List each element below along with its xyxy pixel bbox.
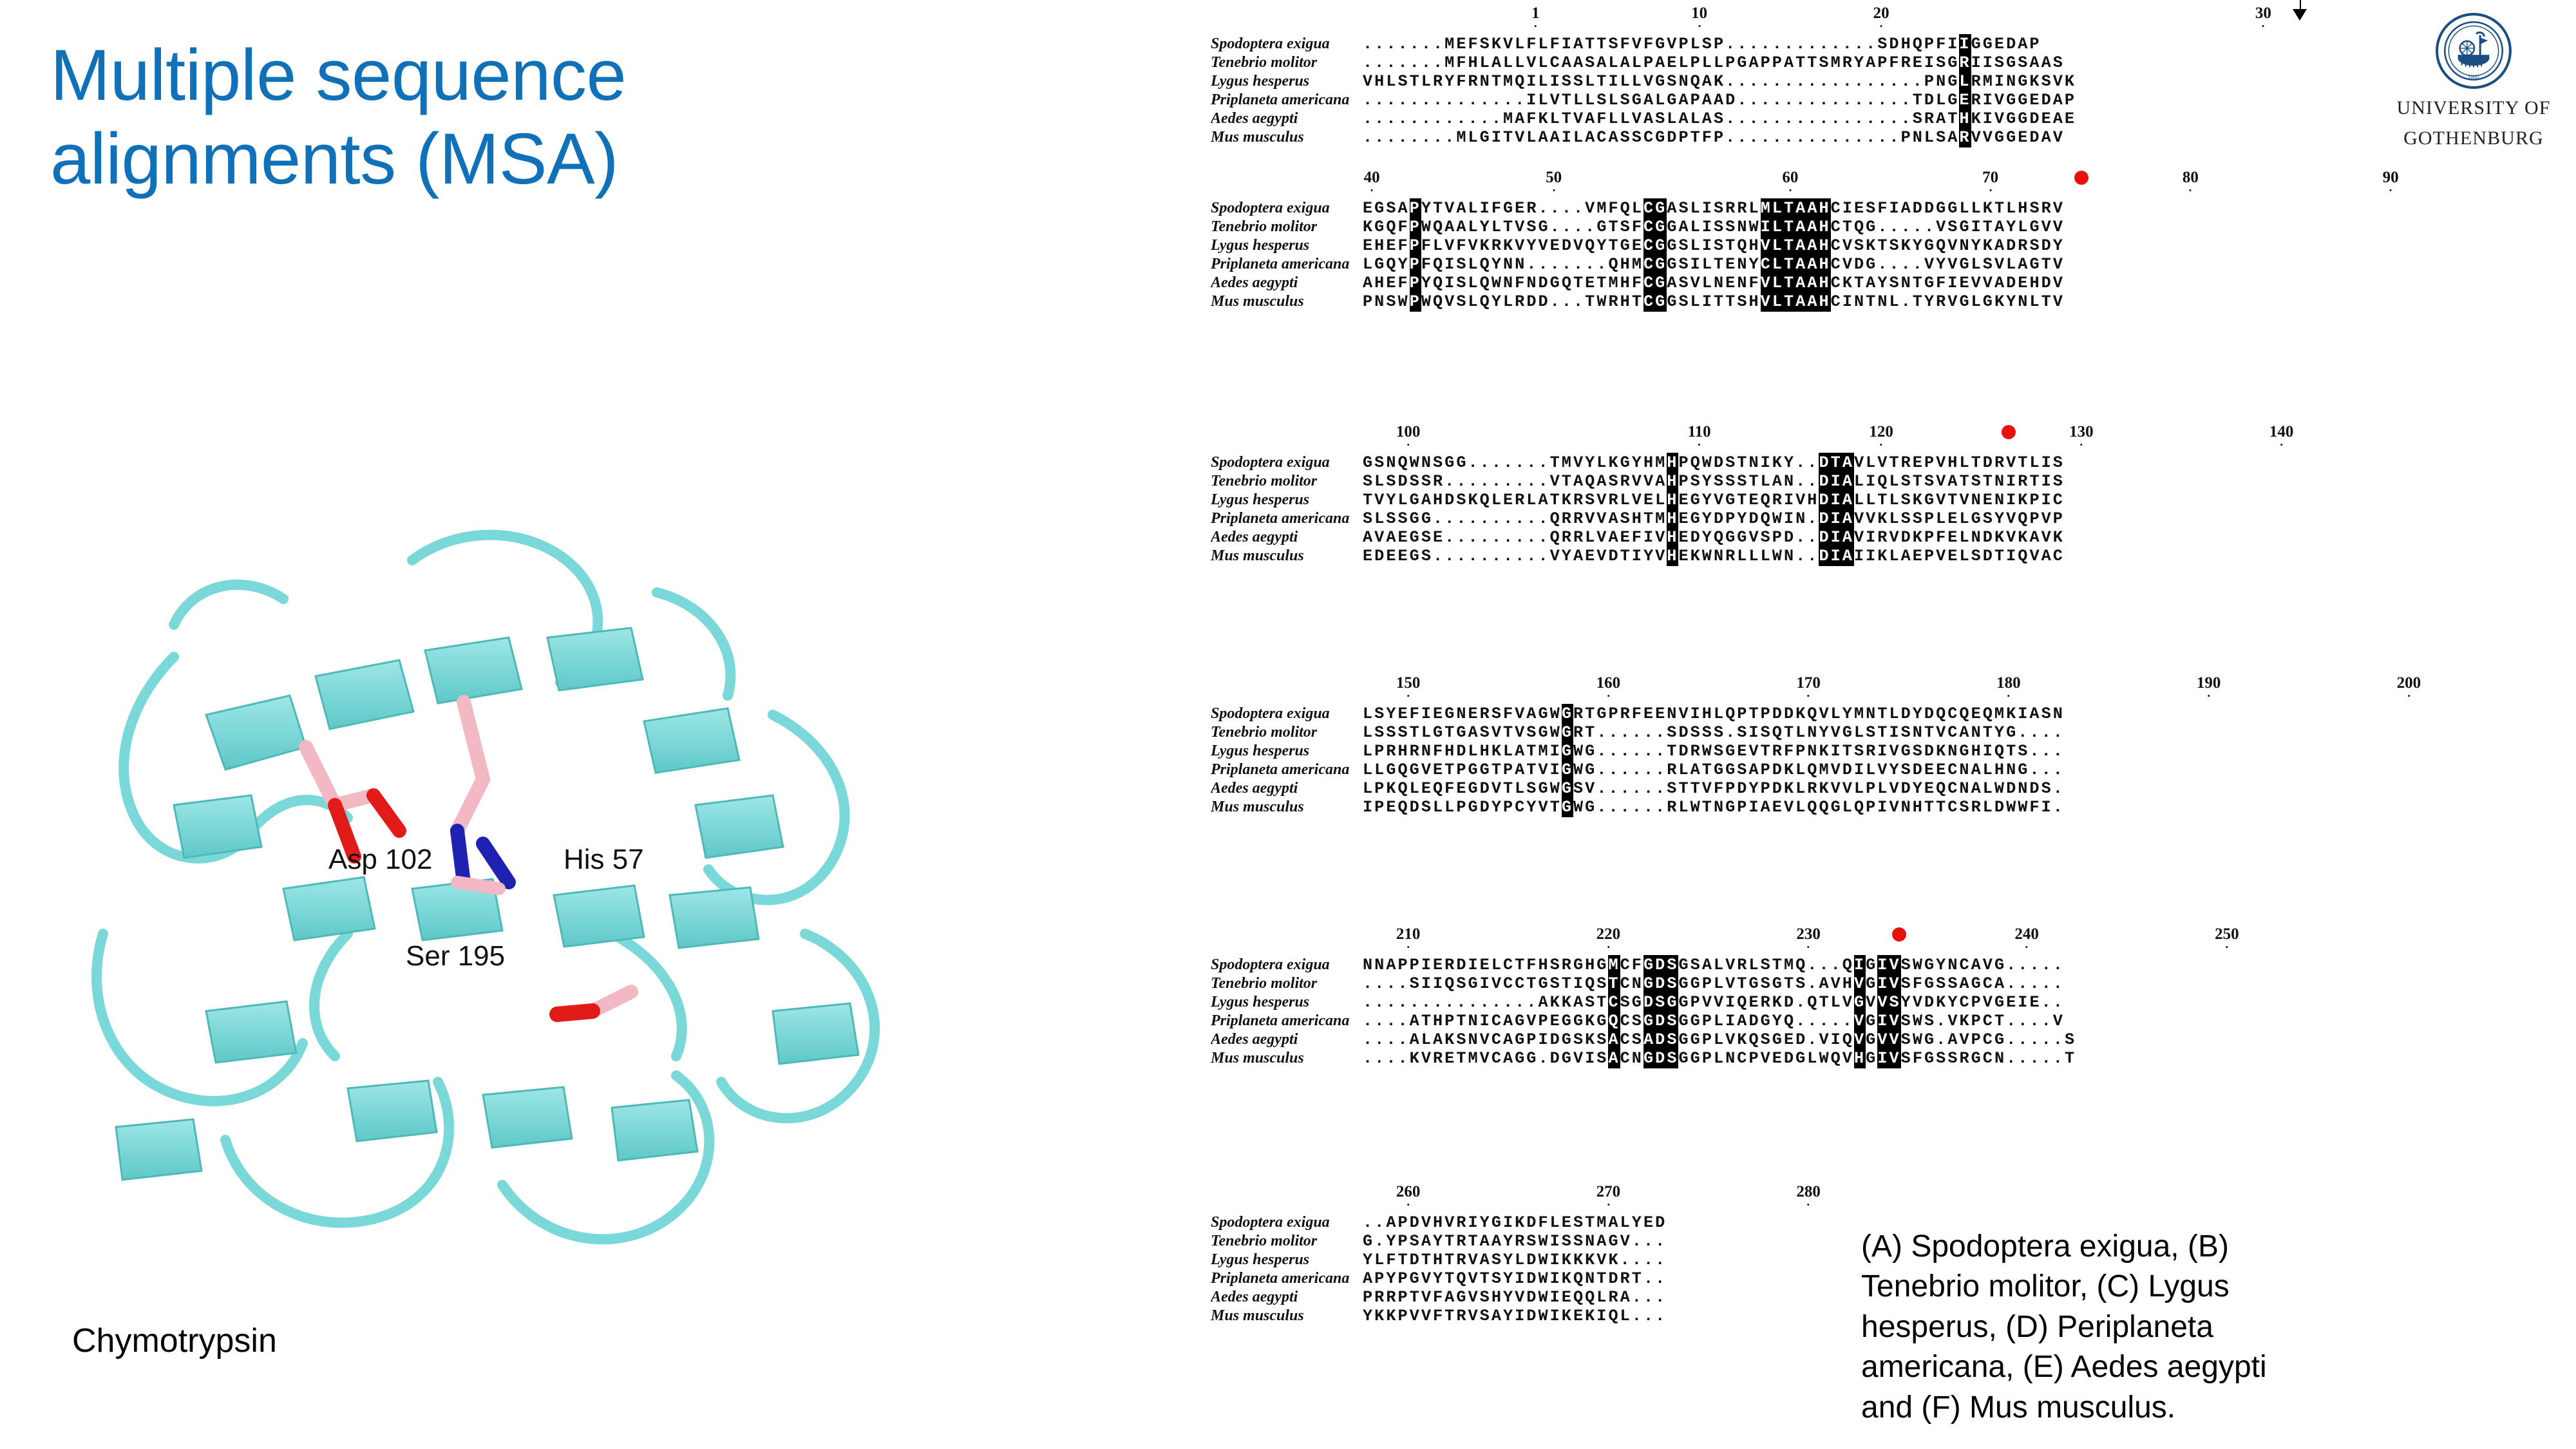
catalytic-residue-marker <box>2002 425 2016 439</box>
ruler-tick-dot <box>1553 189 1555 191</box>
university-logo: 1891 UNIVERSITY OF GOTHENBURG <box>2383 12 2564 150</box>
msa-sequence-row: Priplaneta americanaLGQYPFQISLQYNN......… <box>1211 255 2306 274</box>
msa-species-label: Aedes aegypti <box>1211 110 1363 128</box>
msa-conserved-residue: H <box>1667 453 1678 473</box>
ruler-tick-label: 280 <box>1796 1184 1821 1200</box>
ruler-tick: 170 <box>1796 675 1821 697</box>
msa-sequence-text: LLGQGVETPGGTPATVIGWG......RLATGGSAPDKLQM… <box>1363 761 2065 779</box>
msa-conserved-residue: T <box>1608 974 1620 994</box>
residue-label-ser-195: Ser 195 <box>406 940 505 972</box>
msa-conserved-residue: A <box>1842 527 1854 547</box>
msa-sequence-row: Lygus hesperusLPRHRNFHDLHKLATMIGWG......… <box>1211 742 2306 761</box>
msa-sequence-text: IPEQDSLLPGDYPCYVTGWG......RLWTNGPIAEVLQQ… <box>1363 798 2065 817</box>
msa-conserved-residue: VLTAAH <box>1761 292 1831 312</box>
ruler-tick-label: 170 <box>1796 675 1821 691</box>
msa-conserved-residue: H <box>1854 1048 1866 1068</box>
msa-conserved-residue: G <box>1562 723 1573 743</box>
msa-position-ruler: 405060708090 <box>1211 169 2306 199</box>
msa-species-label: Spodoptera exigua <box>1211 35 1363 53</box>
ruler-tick-label: 40 <box>1364 169 1380 185</box>
msa-conserved-residue: A <box>1842 471 1854 491</box>
msa-conserved-residue: CG <box>1643 236 1667 256</box>
msa-conserved-residue: DSG <box>1643 992 1679 1012</box>
msa-species-label: Priplaneta americana <box>1211 761 1363 779</box>
seal-year-text: 1891 <box>2468 75 2480 81</box>
msa-sequence-text: APYPGVYTQVTSYIDWIKQNTDRT.. <box>1363 1269 1667 1288</box>
ruler-tick-label: 240 <box>2014 926 2039 942</box>
ruler-tick-dot <box>1789 189 1791 191</box>
msa-species-label: Spodoptera exigua <box>1211 1214 1363 1231</box>
ruler-tick-label: 210 <box>1396 926 1421 942</box>
ruler-tick-dot <box>1880 25 1882 27</box>
msa-species-label: Aedes aegypti <box>1211 1031 1363 1048</box>
msa-species-label: Spodoptera exigua <box>1211 705 1363 723</box>
msa-position-ruler: 260270280 <box>1211 1184 2306 1213</box>
msa-species-label: Tenebrio molitor <box>1211 218 1363 236</box>
ruler-tick: 220 <box>1596 926 1621 948</box>
msa-position-ruler: 150160170180190200 <box>1211 675 2306 705</box>
msa-conserved-residue: R <box>1959 128 1971 147</box>
msa-conserved-residue: P <box>1410 236 1421 256</box>
ruler-tick-dot <box>2280 444 2282 446</box>
msa-conserved-residue: V <box>1854 974 1866 994</box>
ruler-tick-dot <box>2262 25 2264 27</box>
msa-species-label: Lygus hesperus <box>1211 743 1363 760</box>
msa-conserved-residue: VV <box>1877 1030 1900 1050</box>
msa-species-label: Aedes aegypti <box>1211 1289 1363 1306</box>
ruler-tick: 120 <box>1869 424 1893 446</box>
ruler-tick-label: 120 <box>1869 424 1893 440</box>
msa-species-label: Lygus hesperus <box>1211 237 1363 254</box>
msa-sequence-row: Mus musculusIPEQDSLLPGDYPCYVTGWG......RL… <box>1211 798 2306 817</box>
msa-sequence-text: .......MEFSKVLFLFIATTSFVFGVPLSP.........… <box>1363 35 2041 53</box>
ruler-tick: 230 <box>1796 926 1821 948</box>
msa-sequence-row: Spodoptera exiguaEGSAPYTVALIFGER....VMFQ… <box>1211 199 2306 218</box>
msa-sequence-text: EGSAPYTVALIFGER....VMFQLCGASLISRRLMLTAAH… <box>1363 199 2065 218</box>
residue-label-his-57: His 57 <box>563 844 644 876</box>
msa-conserved-residue: CG <box>1643 198 1667 218</box>
residue-label-asp-102: Asp 102 <box>328 844 432 876</box>
msa-species-label: Priplaneta americana <box>1211 1012 1363 1030</box>
msa-conserved-residue: P <box>1410 217 1421 237</box>
msa-conserved-residue: ADS <box>1643 1030 1679 1050</box>
msa-sequence-row: Mus musculus........MLGITVLAAILACASSCGDP… <box>1211 128 2306 147</box>
msa-sequence-text: NNAPPIERDIELCTFHSRGHGMCFGDSGSALVRLSTMQ..… <box>1363 956 2065 974</box>
msa-sequence-text: ....ATHPTNICAGVPEGGKGQCSGDSGGPLIADGYQ...… <box>1363 1012 2065 1030</box>
msa-conserved-residue: M <box>1608 955 1620 975</box>
msa-conserved-residue: C <box>1608 992 1620 1012</box>
msa-conserved-residue: CG <box>1643 292 1667 312</box>
ruler-tick-label: 100 <box>1396 424 1421 440</box>
ruler-tick-label: 50 <box>1546 169 1562 185</box>
msa-species-label: Mus musculus <box>1211 293 1363 310</box>
msa-species-label: Tenebrio molitor <box>1211 1233 1363 1250</box>
msa-block: 150160170180190200Spodoptera exiguaLSYEF… <box>1211 675 2306 817</box>
ruler-tick-dot <box>2080 444 2082 446</box>
ruler-tick-dot <box>2190 189 2192 191</box>
ruler-tick: 200 <box>2397 675 2421 697</box>
msa-conserved-residue: L <box>1959 71 1971 91</box>
ruler-tick: 250 <box>2215 926 2239 948</box>
msa-sequence-text: LSSSTLGTGASVTVSGWGRT......SDSSS.SISQTLNY… <box>1363 723 2065 742</box>
msa-sequence-text: GSNQWNSGG.......TMVYLKGYHMHPQWDSTNIKY..D… <box>1363 453 2065 472</box>
msa-species-label: Tenebrio molitor <box>1211 473 1363 490</box>
msa-conserved-residue: H <box>1667 509 1678 529</box>
ruler-tick-label: 130 <box>2069 424 2094 440</box>
msa-conserved-residue: GDS <box>1643 1011 1679 1031</box>
msa-sequence-row: Aedes aegypti............MAFKLTVAFLLVASL… <box>1211 109 2306 128</box>
msa-sequence-row: Aedes aegypti....ALAKSNVCAGPIDGSKSACSADS… <box>1211 1030 2306 1049</box>
ruler-tick-label: 10 <box>1691 5 1707 21</box>
ruler-tick-label: 90 <box>2383 169 2399 185</box>
university-seal-icon: 1891 <box>2434 12 2513 90</box>
ruler-tick-dot <box>1407 1204 1409 1206</box>
msa-sequence-text: EHEFPFLVFVKRKVYVEDVQYTGECGGSLISTQHVLTAAH… <box>1363 236 2065 255</box>
ruler-tick-label: 250 <box>2215 926 2239 942</box>
msa-conserved-residue: G <box>1562 797 1573 817</box>
msa-sequence-row: Priplaneta americanaSLSSGG..........QRRV… <box>1211 509 2306 528</box>
msa-conserved-residue: H <box>1667 490 1678 510</box>
msa-species-label: Spodoptera exigua <box>1211 200 1363 217</box>
msa-conserved-residue: G <box>1562 741 1573 761</box>
msa-sequence-text: LPRHRNFHDLHKLATMIGWG......TDRWSGEVTRFPNK… <box>1363 742 2065 761</box>
ruler-tick-dot <box>2408 695 2410 697</box>
msa-species-label: Priplaneta americana <box>1211 91 1363 109</box>
ruler-tick: 260 <box>1396 1184 1421 1206</box>
ruler-tick-label: 200 <box>2397 675 2421 691</box>
msa-sequence-text: KGQFPWQAALYLTVSG....GTSFCGGALISSNWILTAAH… <box>1363 218 2065 236</box>
ruler-tick-label: 220 <box>1596 926 1621 942</box>
msa-sequence-text: PNSWPWQVSLQYLRDD...TWRHTCGGSLITTSHVLTAAH… <box>1363 292 2065 311</box>
ruler-tick: 160 <box>1596 675 1621 697</box>
ruler-tick-dot <box>1607 1204 1609 1206</box>
ruler-tick: 180 <box>1996 675 2021 697</box>
msa-conserved-residue: H <box>1959 109 1971 129</box>
msa-species-label: Priplaneta americana <box>1211 510 1363 527</box>
msa-position-ruler: 1102030 <box>1211 5 2306 35</box>
msa-conserved-residue: IV <box>1877 974 1900 994</box>
msa-caption: (A) Spodoptera exigua, (B) Tenebrio moli… <box>1861 1227 2318 1428</box>
msa-block: 100110120130140Spodoptera exiguaGSNQWNSG… <box>1211 424 2306 565</box>
msa-sequence-row: Lygus hesperus...............AKKASTCSGDS… <box>1211 993 2306 1012</box>
msa-conserved-residue: GDS <box>1643 1048 1679 1068</box>
msa-sequence-text: ...............AKKASTCSGDSGGPVVIQERKD.QT… <box>1363 993 2065 1012</box>
ruler-tick: 60 <box>1782 169 1798 191</box>
msa-species-label: Lygus hesperus <box>1211 1251 1363 1269</box>
msa-conserved-residue: CG <box>1643 217 1667 237</box>
msa-conserved-residue: H <box>1667 527 1678 547</box>
ruler-tick: 280 <box>1796 1184 1821 1206</box>
msa-sequence-text: ....KVRETMVCAGG.DGVISACNGDSGGPLNCPVEDGLW… <box>1363 1049 2076 1068</box>
ruler-tick: 240 <box>2014 926 2039 948</box>
ruler-tick-dot <box>2026 946 2028 948</box>
msa-block: 210220230240250Spodoptera exiguaNNAPPIER… <box>1211 926 2306 1068</box>
msa-position-ruler: 100110120130140 <box>1211 424 2306 453</box>
ruler-tick-dot <box>1808 946 1810 948</box>
msa-conserved-residue: GDS <box>1643 974 1679 994</box>
chymotrypsin-ribbon-diagram <box>13 444 1005 1301</box>
msa-conserved-residue: G <box>1854 992 1866 1012</box>
ruler-tick-dot <box>1407 444 1409 446</box>
msa-sequence-text: ............MAFKLTVAFLLVASLALAS.........… <box>1363 109 2076 128</box>
msa-sequence-row: Spodoptera exiguaNNAPPIERDIELCTFHSRGHGMC… <box>1211 956 2306 974</box>
msa-sequence-row: Lygus hesperusTVYLGAHDSKQLERLATKRSVRLVEL… <box>1211 491 2306 509</box>
msa-species-label: Mus musculus <box>1211 1307 1363 1325</box>
msa-position-ruler: 210220230240250 <box>1211 926 2306 956</box>
msa-conserved-residue: DT <box>1819 453 1842 473</box>
ruler-tick: 210 <box>1396 926 1421 948</box>
msa-sequence-text: YKKPVVFTRVSAYIDWIKEKIQL... <box>1363 1307 1667 1325</box>
msa-sequence-rows: Spodoptera exigua.......MEFSKVLFLFIATTSF… <box>1211 35 2306 147</box>
msa-conserved-residue: G <box>1562 704 1573 724</box>
ruler-tick-label: 260 <box>1396 1184 1421 1200</box>
msa-sequence-row: Priplaneta americana..............ILVTLL… <box>1211 91 2306 109</box>
msa-conserved-residue: V <box>1854 1011 1866 1031</box>
msa-sequence-text: AVAEGSE.........QRRLVAEFIVHEDYQGGVSPD..D… <box>1363 528 2065 547</box>
msa-conserved-residue: P <box>1410 254 1421 274</box>
msa-conserved-residue: P <box>1410 198 1421 218</box>
ruler-tick-dot <box>1808 1204 1810 1206</box>
msa-sequence-row: Aedes aegyptiAHEFPYQISLQWNFNDGQTETMHFCGA… <box>1211 274 2306 292</box>
ruler-tick: 190 <box>2197 675 2221 697</box>
msa-conserved-residue: VS <box>1877 992 1900 1012</box>
msa-conserved-residue: VLTAAH <box>1761 236 1831 256</box>
msa-sequence-row: Tenebrio molitorSLSDSSR.........VTAQASRV… <box>1211 472 2306 491</box>
ruler-tick-label: 230 <box>1796 926 1821 942</box>
msa-species-label: Lygus hesperus <box>1211 491 1363 509</box>
msa-species-label: Tenebrio molitor <box>1211 54 1363 71</box>
msa-conserved-residue: CG <box>1643 254 1667 274</box>
ruler-tick-dot <box>1607 695 1609 697</box>
msa-conserved-residue: P <box>1410 292 1421 312</box>
msa-sequence-text: G.YPSAYTRTAAYRSWISSNAGV... <box>1363 1232 1667 1251</box>
msa-species-label: Tenebrio molitor <box>1211 724 1363 741</box>
msa-species-label: Mus musculus <box>1211 547 1363 565</box>
msa-conserved-residue: DI <box>1819 546 1842 566</box>
msa-conserved-residue: VLTAAH <box>1761 273 1831 293</box>
msa-species-label: Tenebrio molitor <box>1211 975 1363 992</box>
ruler-tick-dot <box>1880 444 1882 446</box>
ruler-tick-label: 20 <box>1873 5 1889 21</box>
msa-sequence-text: ..............ILVTLLSLSGALGAPAAD........… <box>1363 91 2076 109</box>
msa-conserved-residue: A <box>1608 1048 1620 1068</box>
msa-sequence-text: VHLSTLRYFRNTMQILISSLTILLVGSNQAK.........… <box>1363 72 2076 91</box>
msa-species-label: Priplaneta americana <box>1211 256 1363 273</box>
catalytic-residue-marker <box>1892 927 1906 942</box>
ruler-tick-dot <box>2390 189 2392 191</box>
ruler-tick-label: 60 <box>1782 169 1798 185</box>
page-title: Multiple sequence alignments (MSA) <box>50 33 772 201</box>
msa-sequence-row: Lygus hesperusEHEFPFLVFVKRKVYVEDVQYTGECG… <box>1211 236 2306 255</box>
msa-conserved-residue: I <box>1854 955 1866 975</box>
ruler-tick-label: 70 <box>1982 169 1998 185</box>
msa-sequence-rows: Spodoptera exiguaGSNQWNSGG.......TMVYLKG… <box>1211 453 2306 565</box>
msa-species-label: Lygus hesperus <box>1211 994 1363 1011</box>
msa-sequence-row: Aedes aegyptiLPKQLEQFEGDVTLSGWGSV......S… <box>1211 779 2306 798</box>
ruler-tick: 270 <box>1596 1184 1621 1206</box>
msa-sequence-text: SLSSGG..........QRRVVASHTMHEGYDPYDQWIN.D… <box>1363 509 2065 528</box>
msa-sequence-row: Tenebrio molitorLSSSTLGTGASVTVSGWGRT....… <box>1211 723 2306 742</box>
ruler-tick: 1 <box>1531 5 1540 27</box>
msa-block: 405060708090Spodoptera exiguaEGSAPYTVALI… <box>1211 169 2306 311</box>
logo-line-2: GOTHENBURG <box>2383 127 2564 151</box>
msa-block: 1102030Spodoptera exigua.......MEFSKVLFL… <box>1211 5 2306 147</box>
ruler-tick: 150 <box>1396 675 1421 697</box>
msa-conserved-residue: DI <box>1819 509 1842 529</box>
msa-sequence-text: ..APDVHVRIYGIKDFLESTMALYED <box>1363 1213 1667 1232</box>
catalytic-residue-marker <box>2074 171 2088 185</box>
msa-conserved-residue: CLTAAH <box>1761 254 1831 274</box>
msa-sequence-text: LSYEFIEGNERSFVAGWGRTGPRFEENVIHLQPTPDDKQV… <box>1363 705 2065 723</box>
ruler-tick-label: 1 <box>1531 5 1540 21</box>
ruler-tick-label: 140 <box>2269 424 2294 440</box>
ruler-tick-label: 190 <box>2197 675 2221 691</box>
msa-sequence-row: Spodoptera exiguaLSYEFIEGNERSFVAGWGRTGPR… <box>1211 705 2306 723</box>
msa-sequence-rows: Spodoptera exiguaLSYEFIEGNERSFVAGWGRTGPR… <box>1211 705 2306 817</box>
ruler-tick: 140 <box>2269 424 2294 446</box>
protein-name-label: Chymotrypsin <box>72 1321 277 1360</box>
ruler-tick-dot <box>1698 444 1700 446</box>
msa-conserved-residue: R <box>1959 53 1971 73</box>
msa-conserved-residue: G <box>1562 760 1573 780</box>
ruler-tick: 30 <box>2255 5 2271 27</box>
ruler-tick-dot <box>2007 695 2009 697</box>
msa-sequence-row: Mus musculusPNSWPWQVSLQYLRDD...TWRHTCGGS… <box>1211 292 2306 311</box>
ruler-tick: 100 <box>1396 424 1421 446</box>
msa-conserved-residue: A <box>1842 509 1854 529</box>
ruler-tick: 70 <box>1982 169 1998 191</box>
ruler-tick-label: 150 <box>1396 675 1421 691</box>
ruler-tick-dot <box>1607 946 1609 948</box>
msa-species-label: Aedes aegypti <box>1211 780 1363 797</box>
ruler-tick: 20 <box>1873 5 1889 27</box>
ruler-tick: 80 <box>2183 169 2199 191</box>
ruler-tick-label: 110 <box>1688 424 1711 440</box>
logo-line-1: UNIVERSITY OF <box>2383 97 2564 120</box>
msa-conserved-residue: A <box>1842 546 1854 566</box>
msa-conserved-residue: V <box>1854 1030 1866 1050</box>
msa-conserved-residue: IV <box>1877 955 1900 975</box>
msa-conserved-residue: DI <box>1819 471 1842 491</box>
msa-sequence-row: Priplaneta americanaLLGQGVETPGGTPATVIGWG… <box>1211 761 2306 779</box>
page-title-line-2: alignments (MSA) <box>50 117 772 201</box>
msa-sequence-row: Aedes aegyptiAVAEGSE.........QRRLVAEFIVH… <box>1211 528 2306 547</box>
msa-sequence-text: EDEEGS..........VYAEVDTIYVHEKWNRLLLWN..D… <box>1363 547 2065 565</box>
msa-species-label: Spodoptera exigua <box>1211 956 1363 974</box>
msa-conserved-residue: DI <box>1819 490 1842 510</box>
ruler-tick-label: 30 <box>2255 5 2271 21</box>
msa-species-label: Aedes aegypti <box>1211 529 1363 546</box>
page-title-line-1: Multiple sequence <box>50 33 772 117</box>
msa-species-label: Spodoptera exigua <box>1211 454 1363 471</box>
ruler-tick: 40 <box>1364 169 1380 191</box>
msa-conserved-residue: A <box>1842 453 1854 473</box>
protein-structure-figure: Asp 102 His 57 Ser 195 <box>13 444 1005 1301</box>
msa-conserved-residue: G <box>1562 779 1573 799</box>
ruler-tick-label: 270 <box>1596 1184 1621 1200</box>
msa-conserved-residue: A <box>1842 490 1854 510</box>
msa-sequence-text: LPKQLEQFEGDVTLSGWGSV......STTVFPDYPDKLRK… <box>1363 779 2065 798</box>
msa-sequence-text: SLSDSSR.........VTAQASRVVAHPSYSSSTLAN..D… <box>1363 472 2065 491</box>
msa-conserved-residue: E <box>1959 90 1971 110</box>
ruler-tick: 50 <box>1546 169 1562 191</box>
ruler-tick: 130 <box>2069 424 2094 446</box>
ruler-tick-label: 160 <box>1596 675 1621 691</box>
msa-conserved-residue: GDS <box>1643 955 1679 975</box>
msa-sequence-text: .......MFHLALLVLCAASALALPAELPLLPGAPPATTS… <box>1363 53 2065 72</box>
ruler-tick-dot <box>1535 25 1537 27</box>
msa-conserved-residue: CG <box>1643 273 1667 293</box>
msa-conserved-residue: H <box>1667 546 1678 566</box>
msa-conserved-residue: I <box>1959 34 1971 54</box>
msa-sequence-row: Spodoptera exigua.......MEFSKVLFLFIATTSF… <box>1211 35 2306 53</box>
ruler-tick-dot <box>1371 189 1373 191</box>
ruler-tick: 90 <box>2383 169 2399 191</box>
msa-sequence-row: Lygus hesperusVHLSTLRYFRNTMQILISSLTILLVG… <box>1211 72 2306 91</box>
ruler-tick-dot <box>2208 695 2210 697</box>
msa-sequence-row: Spodoptera exiguaGSNQWNSGG.......TMVYLKG… <box>1211 453 2306 472</box>
msa-species-label: Aedes aegypti <box>1211 274 1363 292</box>
msa-species-label: Mus musculus <box>1211 1050 1363 1067</box>
msa-conserved-residue: H <box>1667 471 1678 491</box>
msa-sequence-rows: Spodoptera exiguaEGSAPYTVALIFGER....VMFQ… <box>1211 199 2306 311</box>
msa-sequence-rows: Spodoptera exiguaNNAPPIERDIELCTFHSRGHGMC… <box>1211 956 2306 1068</box>
msa-sequence-text: YLFTDTHTRVASYLDWIKKKVK.... <box>1363 1251 1667 1269</box>
msa-sequence-text: AHEFPYQISLQWNFNDGQTETMHFCGASVLNENFVLTAAH… <box>1363 274 2065 292</box>
msa-sequence-text: ....SIIQSGIVCCTGSTIQSTCNGDSGGPLVTGSGTS.A… <box>1363 974 2065 993</box>
ruler-tick-dot <box>1989 189 1991 191</box>
msa-sequence-text: ........MLGITVLAAILACASSCGDPTFP.........… <box>1363 128 2065 147</box>
msa-conserved-residue: ILTAAH <box>1761 217 1831 237</box>
msa-sequence-text: TVYLGAHDSKQLERLATKRSVRLVELHEGYVGTEQRIVHD… <box>1363 491 2065 509</box>
ruler-tick-dot <box>1698 25 1700 27</box>
ruler-tick-dot <box>1407 695 1409 697</box>
msa-sequence-text: LGQYPFQISLQYNN.......QHMCGGSILTENYCLTAAH… <box>1363 255 2065 274</box>
msa-sequence-row: Mus musculus....KVRETMVCAGG.DGVISACNGDSG… <box>1211 1049 2306 1068</box>
msa-sequence-row: Priplaneta americana....ATHPTNICAGVPEGGK… <box>1211 1012 2306 1030</box>
msa-species-label: Mus musculus <box>1211 799 1363 816</box>
msa-sequence-row: Tenebrio molitor.......MFHLALLVLCAASALAL… <box>1211 53 2306 72</box>
ruler-tick-dot <box>1808 695 1810 697</box>
msa-sequence-text: PRRPTVFAGVSHYVDWIEQQLRA... <box>1363 1288 1667 1307</box>
msa-conserved-residue: Q <box>1608 1011 1620 1031</box>
ruler-tick-dot <box>1407 946 1409 948</box>
msa-species-label: Lygus hesperus <box>1211 73 1363 90</box>
msa-conserved-residue: IV <box>1877 1011 1900 1031</box>
msa-conserved-residue: P <box>1410 273 1421 293</box>
msa-conserved-residue: DI <box>1819 527 1842 547</box>
ruler-tick-label: 180 <box>1996 675 2021 691</box>
ruler-tick: 110 <box>1688 424 1711 446</box>
ruler-tick-dot <box>2226 946 2228 948</box>
msa-sequence-text: ....ALAKSNVCAGPIDGSKSACSADSGGPLVKQSGED.V… <box>1363 1030 2076 1049</box>
msa-species-label: Priplaneta americana <box>1211 1270 1363 1287</box>
ruler-tick-label: 80 <box>2183 169 2199 185</box>
msa-sequence-row: Tenebrio molitor....SIIQSGIVCCTGSTIQSTCN… <box>1211 974 2306 993</box>
msa-sequence-row: Tenebrio molitorKGQFPWQAALYLTVSG....GTSF… <box>1211 218 2306 236</box>
msa-conserved-residue: MLTAAH <box>1761 198 1831 218</box>
ruler-tick: 10 <box>1691 5 1707 27</box>
msa-species-label: Mus musculus <box>1211 129 1363 146</box>
msa-sequence-row: Mus musculusEDEEGS..........VYAEVDTIYVHE… <box>1211 547 2306 565</box>
msa-conserved-residue: A <box>1608 1030 1620 1050</box>
msa-conserved-residue: IV <box>1877 1048 1900 1068</box>
